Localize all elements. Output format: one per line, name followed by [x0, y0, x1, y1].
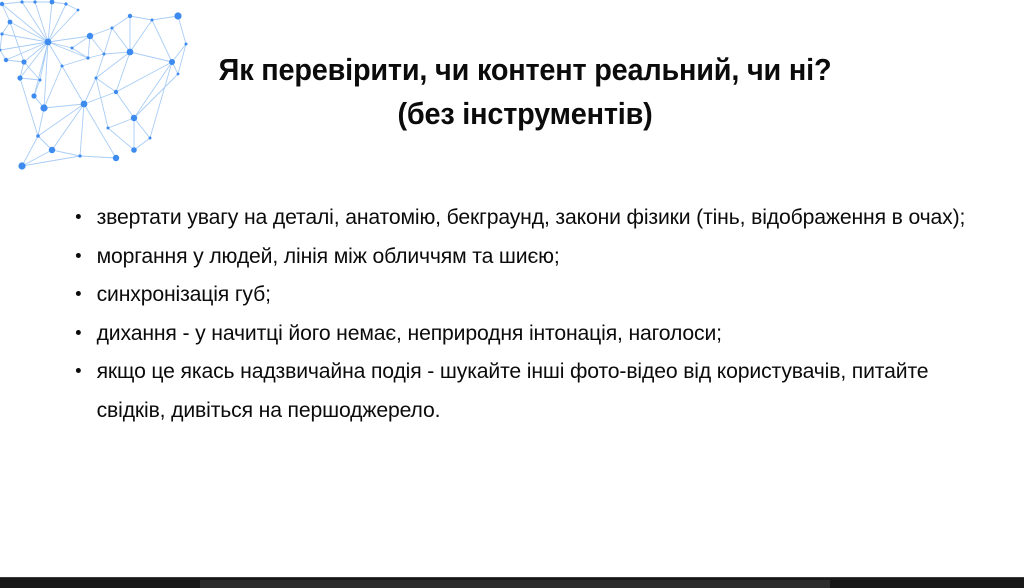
bullet-list: звертати увагу на деталі, анатомію, бекг…	[70, 198, 1000, 429]
bottom-bar-hairline	[0, 577, 1024, 578]
list-item-text: звертати увагу на деталі, анатомію, бекг…	[97, 198, 986, 237]
list-item: дихання - у начитці його немає, неприрод…	[70, 314, 986, 353]
list-item: якщо це якась надзвичайна подія - шукайт…	[70, 352, 986, 429]
slide-title: Як перевірити, чи контент реальний, чи н…	[0, 48, 1024, 136]
list-item: синхронізація губ;	[70, 275, 986, 314]
bullet-dot-icon	[76, 330, 81, 335]
bottom-bar-inner-strip	[200, 580, 830, 588]
slide-canvas: Як перевірити, чи контент реальний, чи н…	[0, 0, 1024, 588]
list-item-text: моргання у людей, лінія між обличчям та …	[97, 237, 986, 276]
bottom-chrome-bar	[0, 577, 1024, 588]
list-item-text: дихання - у начитці його немає, неприрод…	[97, 314, 986, 353]
title-line-1: Як перевірити, чи контент реальний, чи н…	[36, 48, 988, 92]
bullet-dot-icon	[76, 368, 81, 373]
list-item: звертати увагу на деталі, анатомію, бекг…	[70, 198, 986, 237]
bullet-dot-icon	[76, 214, 81, 219]
list-item-text: синхронізація губ;	[97, 275, 986, 314]
bullet-dot-icon	[76, 253, 81, 258]
list-item: моргання у людей, лінія між обличчям та …	[70, 237, 986, 276]
list-item-text: якщо це якась надзвичайна подія - шукайт…	[97, 352, 986, 429]
bullet-dot-icon	[76, 291, 81, 296]
title-line-2: (без інструментів)	[36, 92, 988, 136]
